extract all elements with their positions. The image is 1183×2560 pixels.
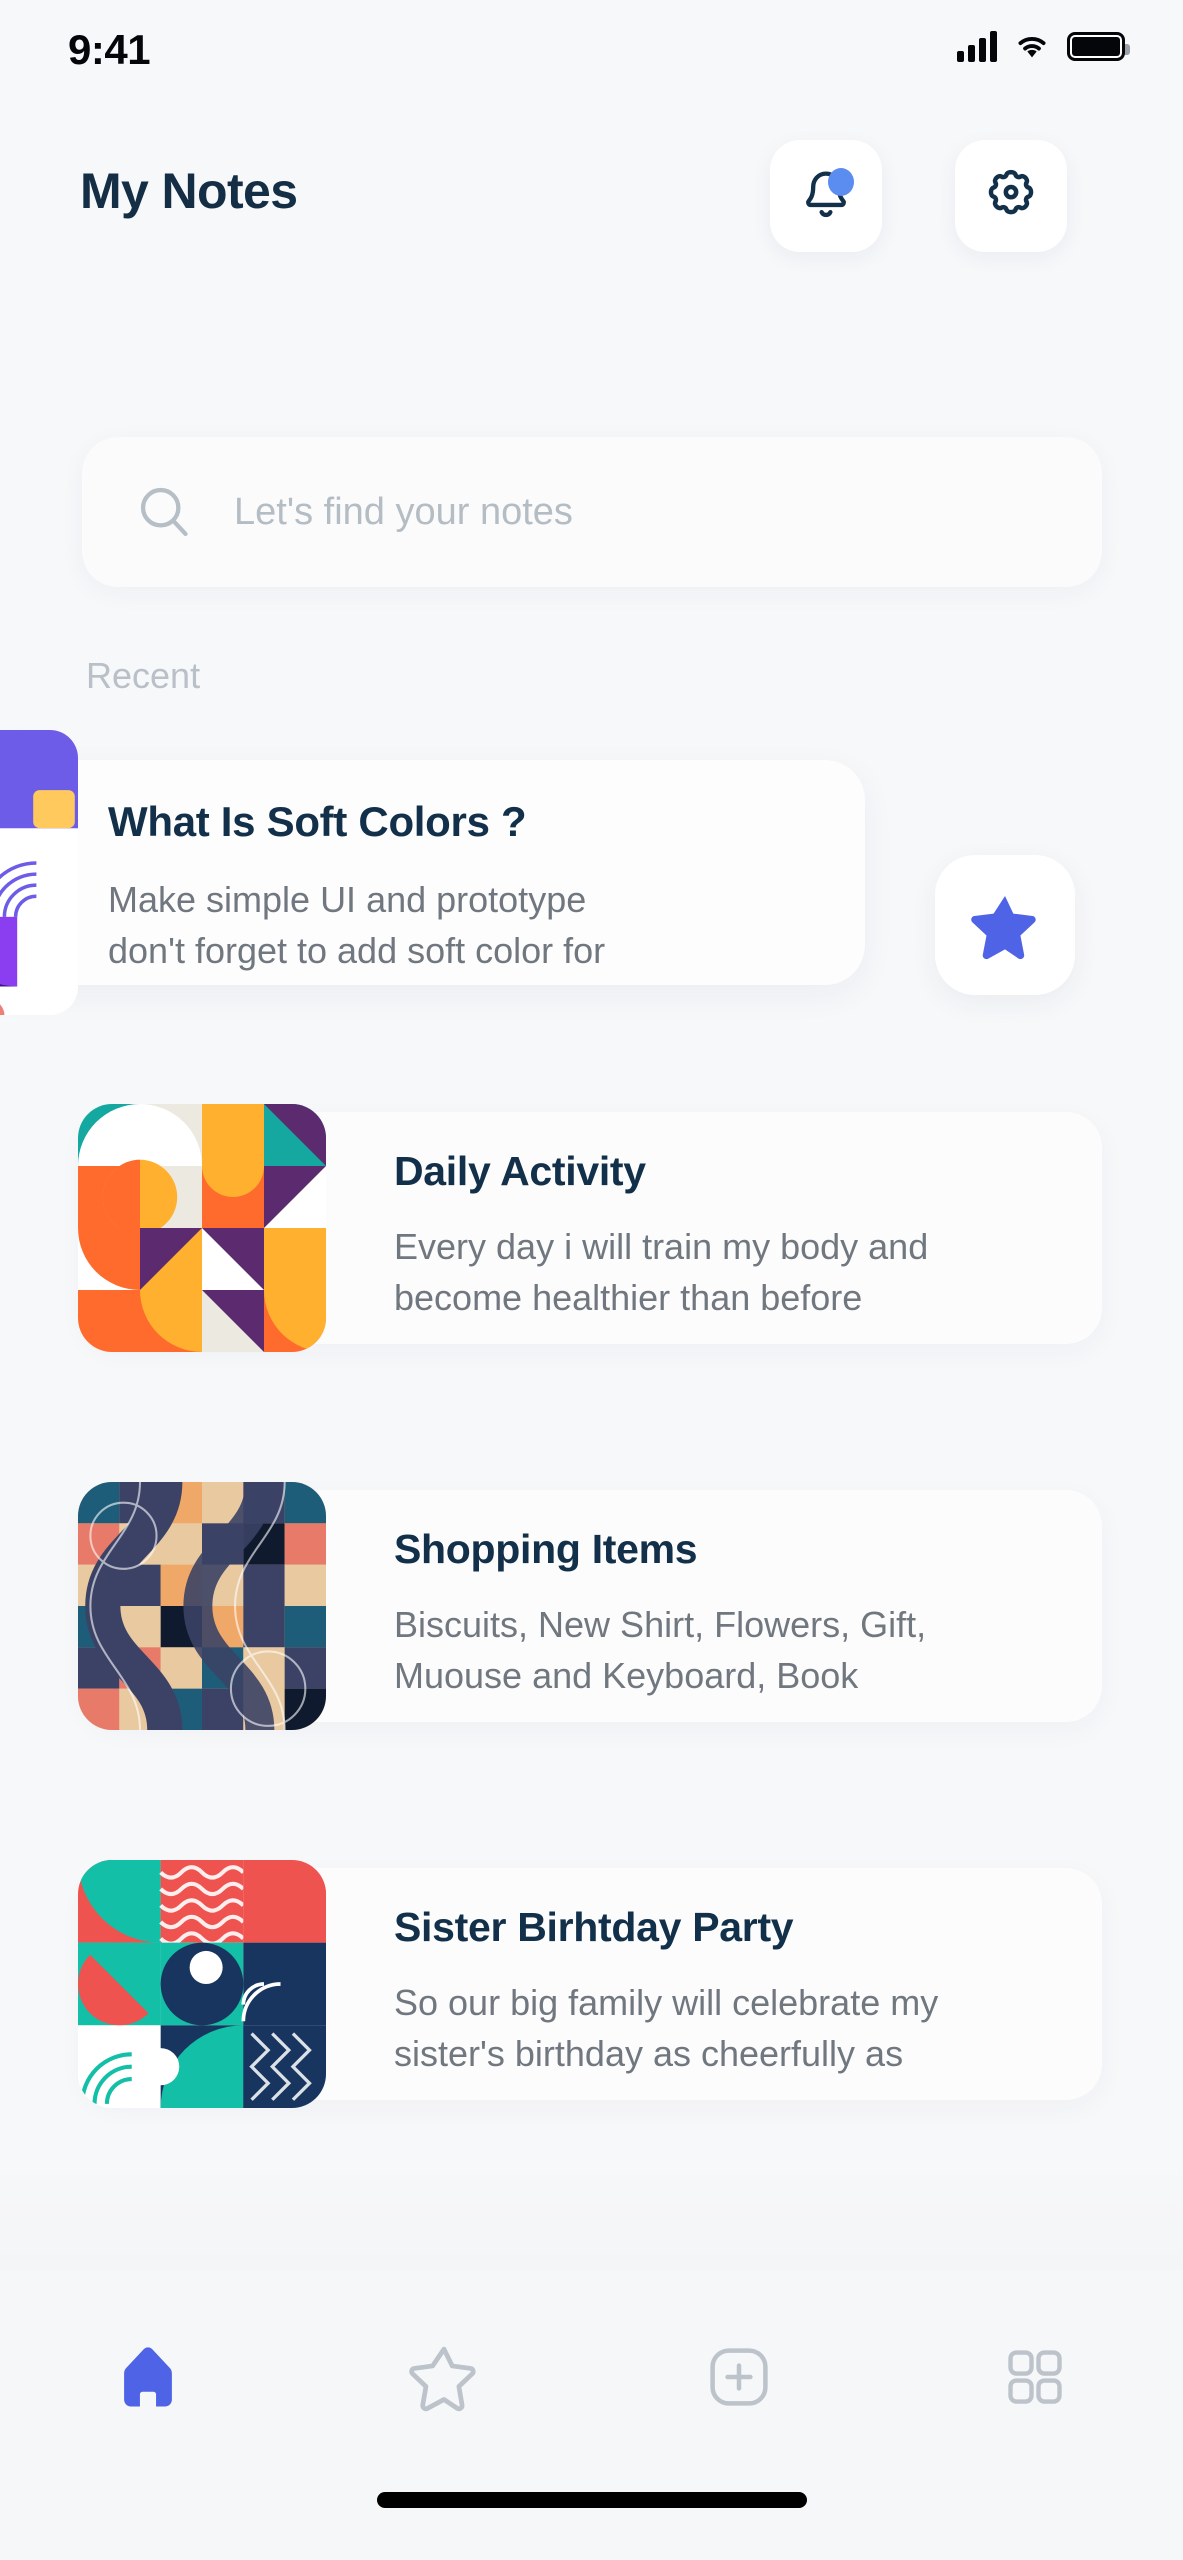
note-card[interactable]: Daily Activity Every day i will train my… bbox=[82, 1112, 1102, 1344]
note-card[interactable]: Shopping Items Biscuits, New Shirt, Flow… bbox=[82, 1490, 1102, 1722]
note-title: Shopping Items bbox=[394, 1526, 1074, 1573]
settings-button[interactable] bbox=[955, 140, 1067, 252]
status-time: 9:41 bbox=[68, 26, 150, 74]
search-icon bbox=[134, 481, 196, 543]
note-body-line: Make simple UI and prototype bbox=[108, 874, 808, 925]
note-text: Daily Activity Every day i will train my… bbox=[394, 1148, 1074, 1323]
status-bar: 9:41 bbox=[0, 0, 1183, 110]
note-body-line: Every day i will train my body and bbox=[394, 1221, 1074, 1272]
status-icons bbox=[957, 30, 1125, 62]
home-indicator bbox=[377, 2492, 807, 2508]
note-thumbnail bbox=[78, 1860, 326, 2108]
star-outline-icon bbox=[406, 2339, 482, 2415]
tab-home[interactable] bbox=[73, 2322, 223, 2432]
note-body-line: don't forget to add soft color for bbox=[108, 925, 808, 976]
app-screen: 9:41 My Notes bbox=[0, 0, 1183, 2560]
note-title: Sister Birhtday Party bbox=[394, 1904, 1074, 1951]
bottom-tab-bar bbox=[0, 2270, 1183, 2560]
grid-icon bbox=[1000, 2342, 1070, 2412]
wifi-icon bbox=[1013, 31, 1051, 61]
search-bar[interactable]: Let's find your notes bbox=[82, 437, 1102, 587]
note-body-line: sister's birthday as cheerfully as bbox=[394, 2028, 1074, 2079]
note-body-line: become healthier than before bbox=[394, 1272, 1074, 1323]
tab-add[interactable] bbox=[664, 2322, 814, 2432]
tab-grid[interactable] bbox=[960, 2322, 1110, 2432]
plus-square-icon bbox=[703, 2341, 775, 2413]
featured-note-card[interactable]: What Is Soft Colors ? Make simple UI and… bbox=[0, 760, 865, 985]
recent-section-label: Recent bbox=[86, 655, 200, 697]
home-icon bbox=[113, 2341, 183, 2413]
star-filled-icon bbox=[968, 888, 1042, 962]
note-body-line: Muouse and Keyboard, Book bbox=[394, 1650, 1074, 1701]
notification-button[interactable] bbox=[770, 140, 882, 252]
tab-favorites[interactable] bbox=[369, 2322, 519, 2432]
favorite-button[interactable] bbox=[935, 855, 1075, 995]
signal-bars-icon bbox=[957, 30, 997, 62]
note-body-line: Biscuits, New Shirt, Flowers, Gift, bbox=[394, 1599, 1074, 1650]
scroll-fade bbox=[0, 2150, 1183, 2270]
note-title: Daily Activity bbox=[394, 1148, 1074, 1195]
note-thumbnail bbox=[78, 1482, 326, 1730]
battery-full-icon bbox=[1067, 32, 1125, 61]
note-text: Sister Birhtday Party So our big family … bbox=[394, 1904, 1074, 2079]
note-card[interactable]: Sister Birhtday Party So our big family … bbox=[82, 1868, 1102, 2100]
notification-badge bbox=[828, 168, 854, 196]
page-title: My Notes bbox=[80, 162, 297, 220]
search-input[interactable]: Let's find your notes bbox=[234, 491, 573, 534]
note-title: What Is Soft Colors ? bbox=[108, 798, 808, 846]
featured-note-text: What Is Soft Colors ? Make simple UI and… bbox=[108, 798, 808, 976]
note-text: Shopping Items Biscuits, New Shirt, Flow… bbox=[394, 1526, 1074, 1701]
note-thumbnail bbox=[0, 730, 78, 1015]
note-thumbnail bbox=[78, 1104, 326, 1352]
app-header: My Notes bbox=[0, 140, 1183, 270]
gear-icon bbox=[983, 168, 1039, 224]
note-body-line: So our big family will celebrate my bbox=[394, 1977, 1074, 2028]
